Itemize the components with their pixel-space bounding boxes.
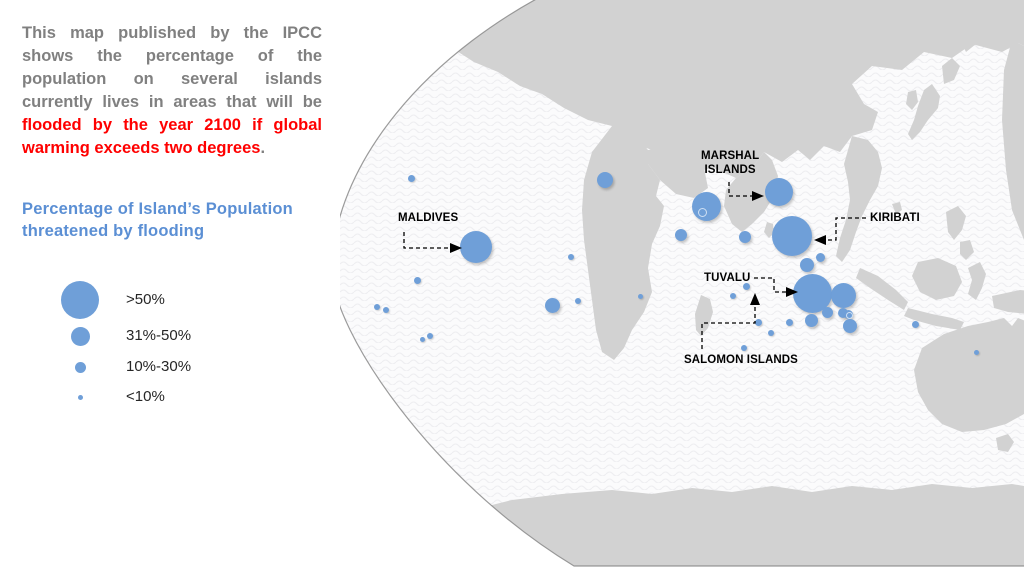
legend-label-2: 10%-30% <box>126 358 191 375</box>
intro-body: This map published by the IPCC shows the… <box>22 24 322 111</box>
marshal-line1: MARSHAL <box>701 150 759 162</box>
callout-label-marshal-islands: MARSHAL ISLANDS <box>701 149 759 177</box>
marshal-line2: ISLANDS <box>705 164 756 176</box>
legend-bubble-3 <box>78 395 83 400</box>
legend-label-1: 31%-50% <box>126 327 191 344</box>
legend-items: >50%31%-50%10%-30%<10% <box>0 278 300 428</box>
callout-label-maldives: MALDIVES <box>398 211 458 225</box>
legend-title: Percentage of Island’s Population threat… <box>22 198 322 242</box>
legend-bubble-1 <box>71 327 90 346</box>
legend-bubble-0 <box>61 281 99 319</box>
callout-label-salomon-islands: SALOMON ISLANDS <box>684 353 798 367</box>
callout-label-kiribati: KIRIBATI <box>870 211 920 225</box>
legend-label-3: <10% <box>126 388 165 405</box>
legend-bubble-2 <box>75 362 86 373</box>
intro-highlight: flooded by the year 2100 if global warmi… <box>22 116 322 157</box>
callout-label-tuvalu: TUVALU <box>704 271 750 285</box>
intro-tail: . <box>260 139 265 157</box>
infographic-root: MALDIVES MARSHAL ISLANDS KIRIBATI TUVALU… <box>0 0 1024 576</box>
left-text-panel: This map published by the IPCC shows the… <box>0 0 340 576</box>
intro-paragraph: This map published by the IPCC shows the… <box>22 22 322 160</box>
legend-label-0: >50% <box>126 291 165 308</box>
